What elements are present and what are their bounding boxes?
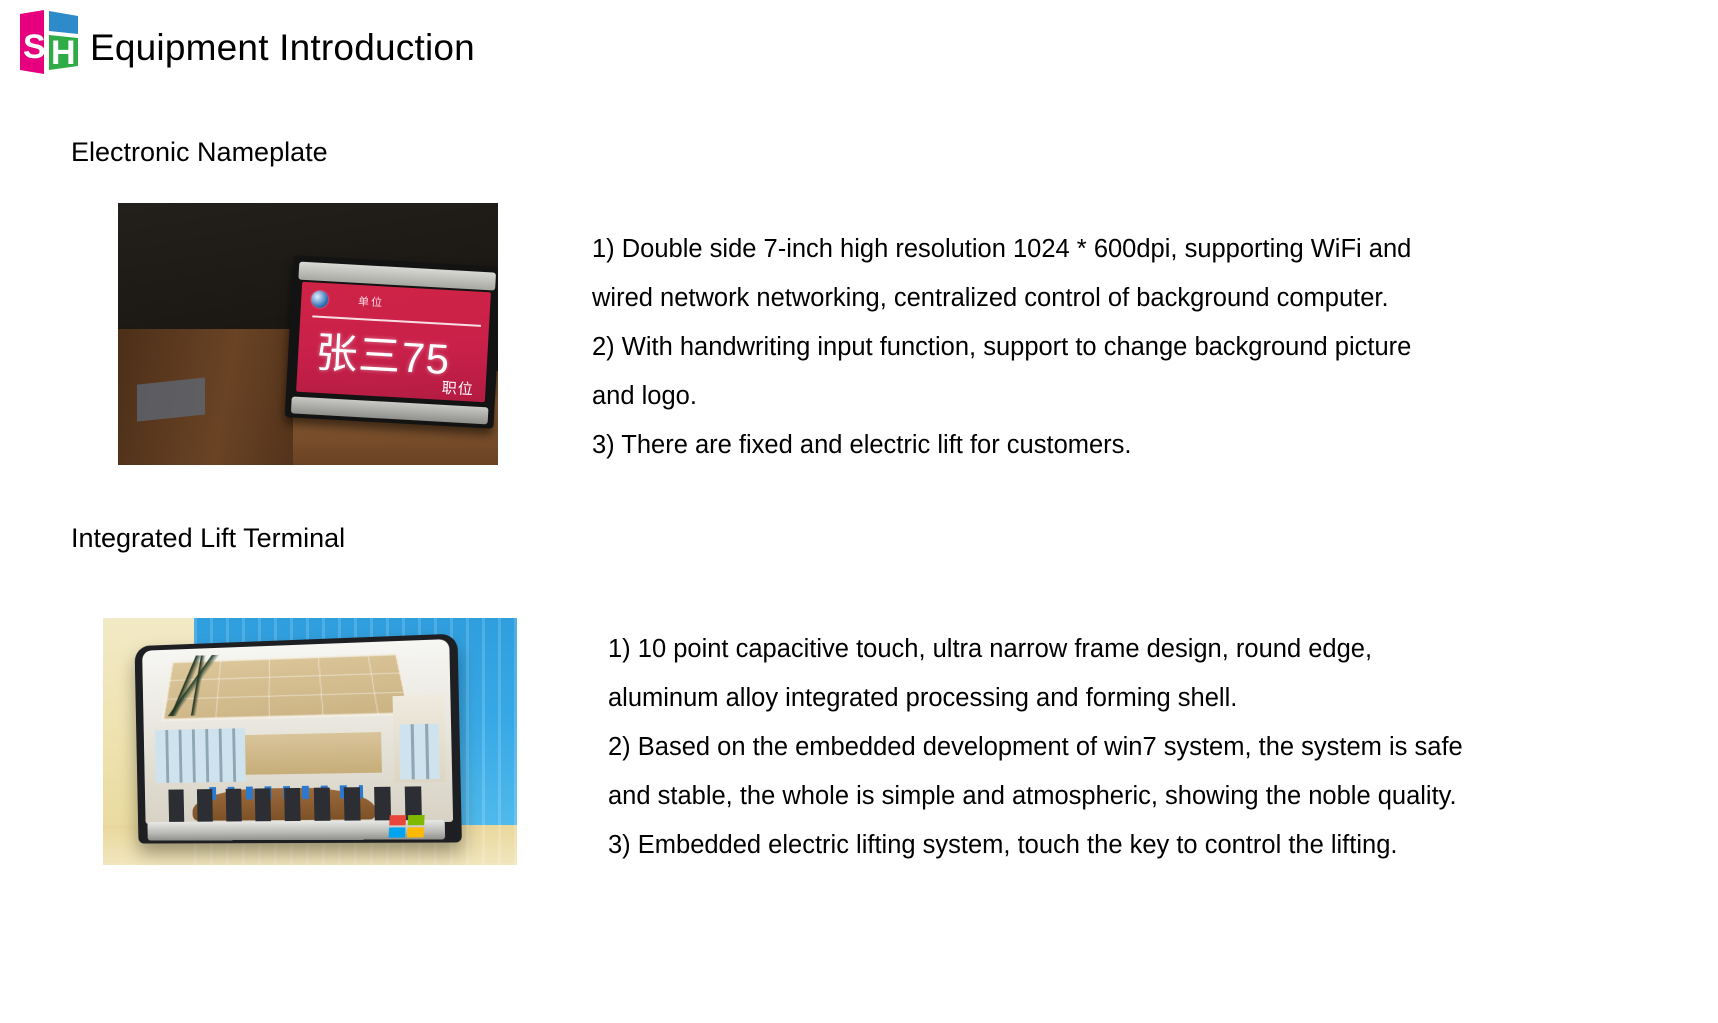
spec-line: 2) With handwriting input function, supp… [592, 323, 1527, 372]
svg-text:H: H [51, 34, 76, 72]
windows-logo-icon [389, 815, 425, 838]
spec-line: 3) There are fixed and electric lift for… [592, 421, 1527, 470]
section-heading-electronic-nameplate: Electronic Nameplate [71, 135, 328, 169]
plant-leaves [148, 655, 226, 717]
spec-line: 2) Based on the embedded development of … [608, 723, 1543, 772]
room-windows-right [400, 724, 440, 779]
slide-header: S H Equipment Introduction [0, 0, 1718, 96]
integrated-lift-terminal-photo [103, 618, 517, 865]
room-wall-panel [245, 733, 382, 775]
page-title: Equipment Introduction [90, 25, 475, 71]
lift-terminal-device [134, 634, 461, 844]
emblem-icon [311, 290, 329, 308]
desk-card [137, 378, 205, 422]
sh-logo: S H [18, 8, 82, 78]
integrated-lift-terminal-specs: 1) 10 point capacitive touch, ultra narr… [608, 625, 1543, 870]
spec-line: wired network networking, centralized co… [592, 274, 1527, 323]
spec-line: aluminum alloy integrated processing and… [608, 674, 1543, 723]
spec-line: and stable, the whole is simple and atmo… [608, 772, 1543, 821]
spec-line: 1) Double side 7-inch high resolution 10… [592, 225, 1527, 274]
nameplate-device: 单位 张三75 职位 [285, 255, 498, 429]
spec-line: and logo. [592, 372, 1527, 421]
screen-display-name: 张三75 [314, 319, 452, 387]
svg-text:S: S [23, 28, 46, 66]
spec-line: 1) 10 point capacitive touch, ultra narr… [608, 625, 1543, 674]
room-windows-left [155, 729, 245, 783]
device-screen [142, 640, 453, 825]
screen-role-label: 职位 [441, 377, 474, 400]
section-heading-integrated-lift-terminal: Integrated Lift Terminal [71, 521, 345, 555]
spec-line: 3) Embedded electric lifting system, tou… [608, 821, 1543, 870]
device-screen: 单位 张三75 职位 [297, 281, 491, 402]
conference-chairs [168, 786, 427, 824]
screen-unit-label: 单位 [358, 292, 385, 309]
electronic-nameplate-specs: 1) Double side 7-inch high resolution 10… [592, 225, 1527, 470]
electronic-nameplate-photo: 单位 张三75 职位 [118, 203, 498, 465]
